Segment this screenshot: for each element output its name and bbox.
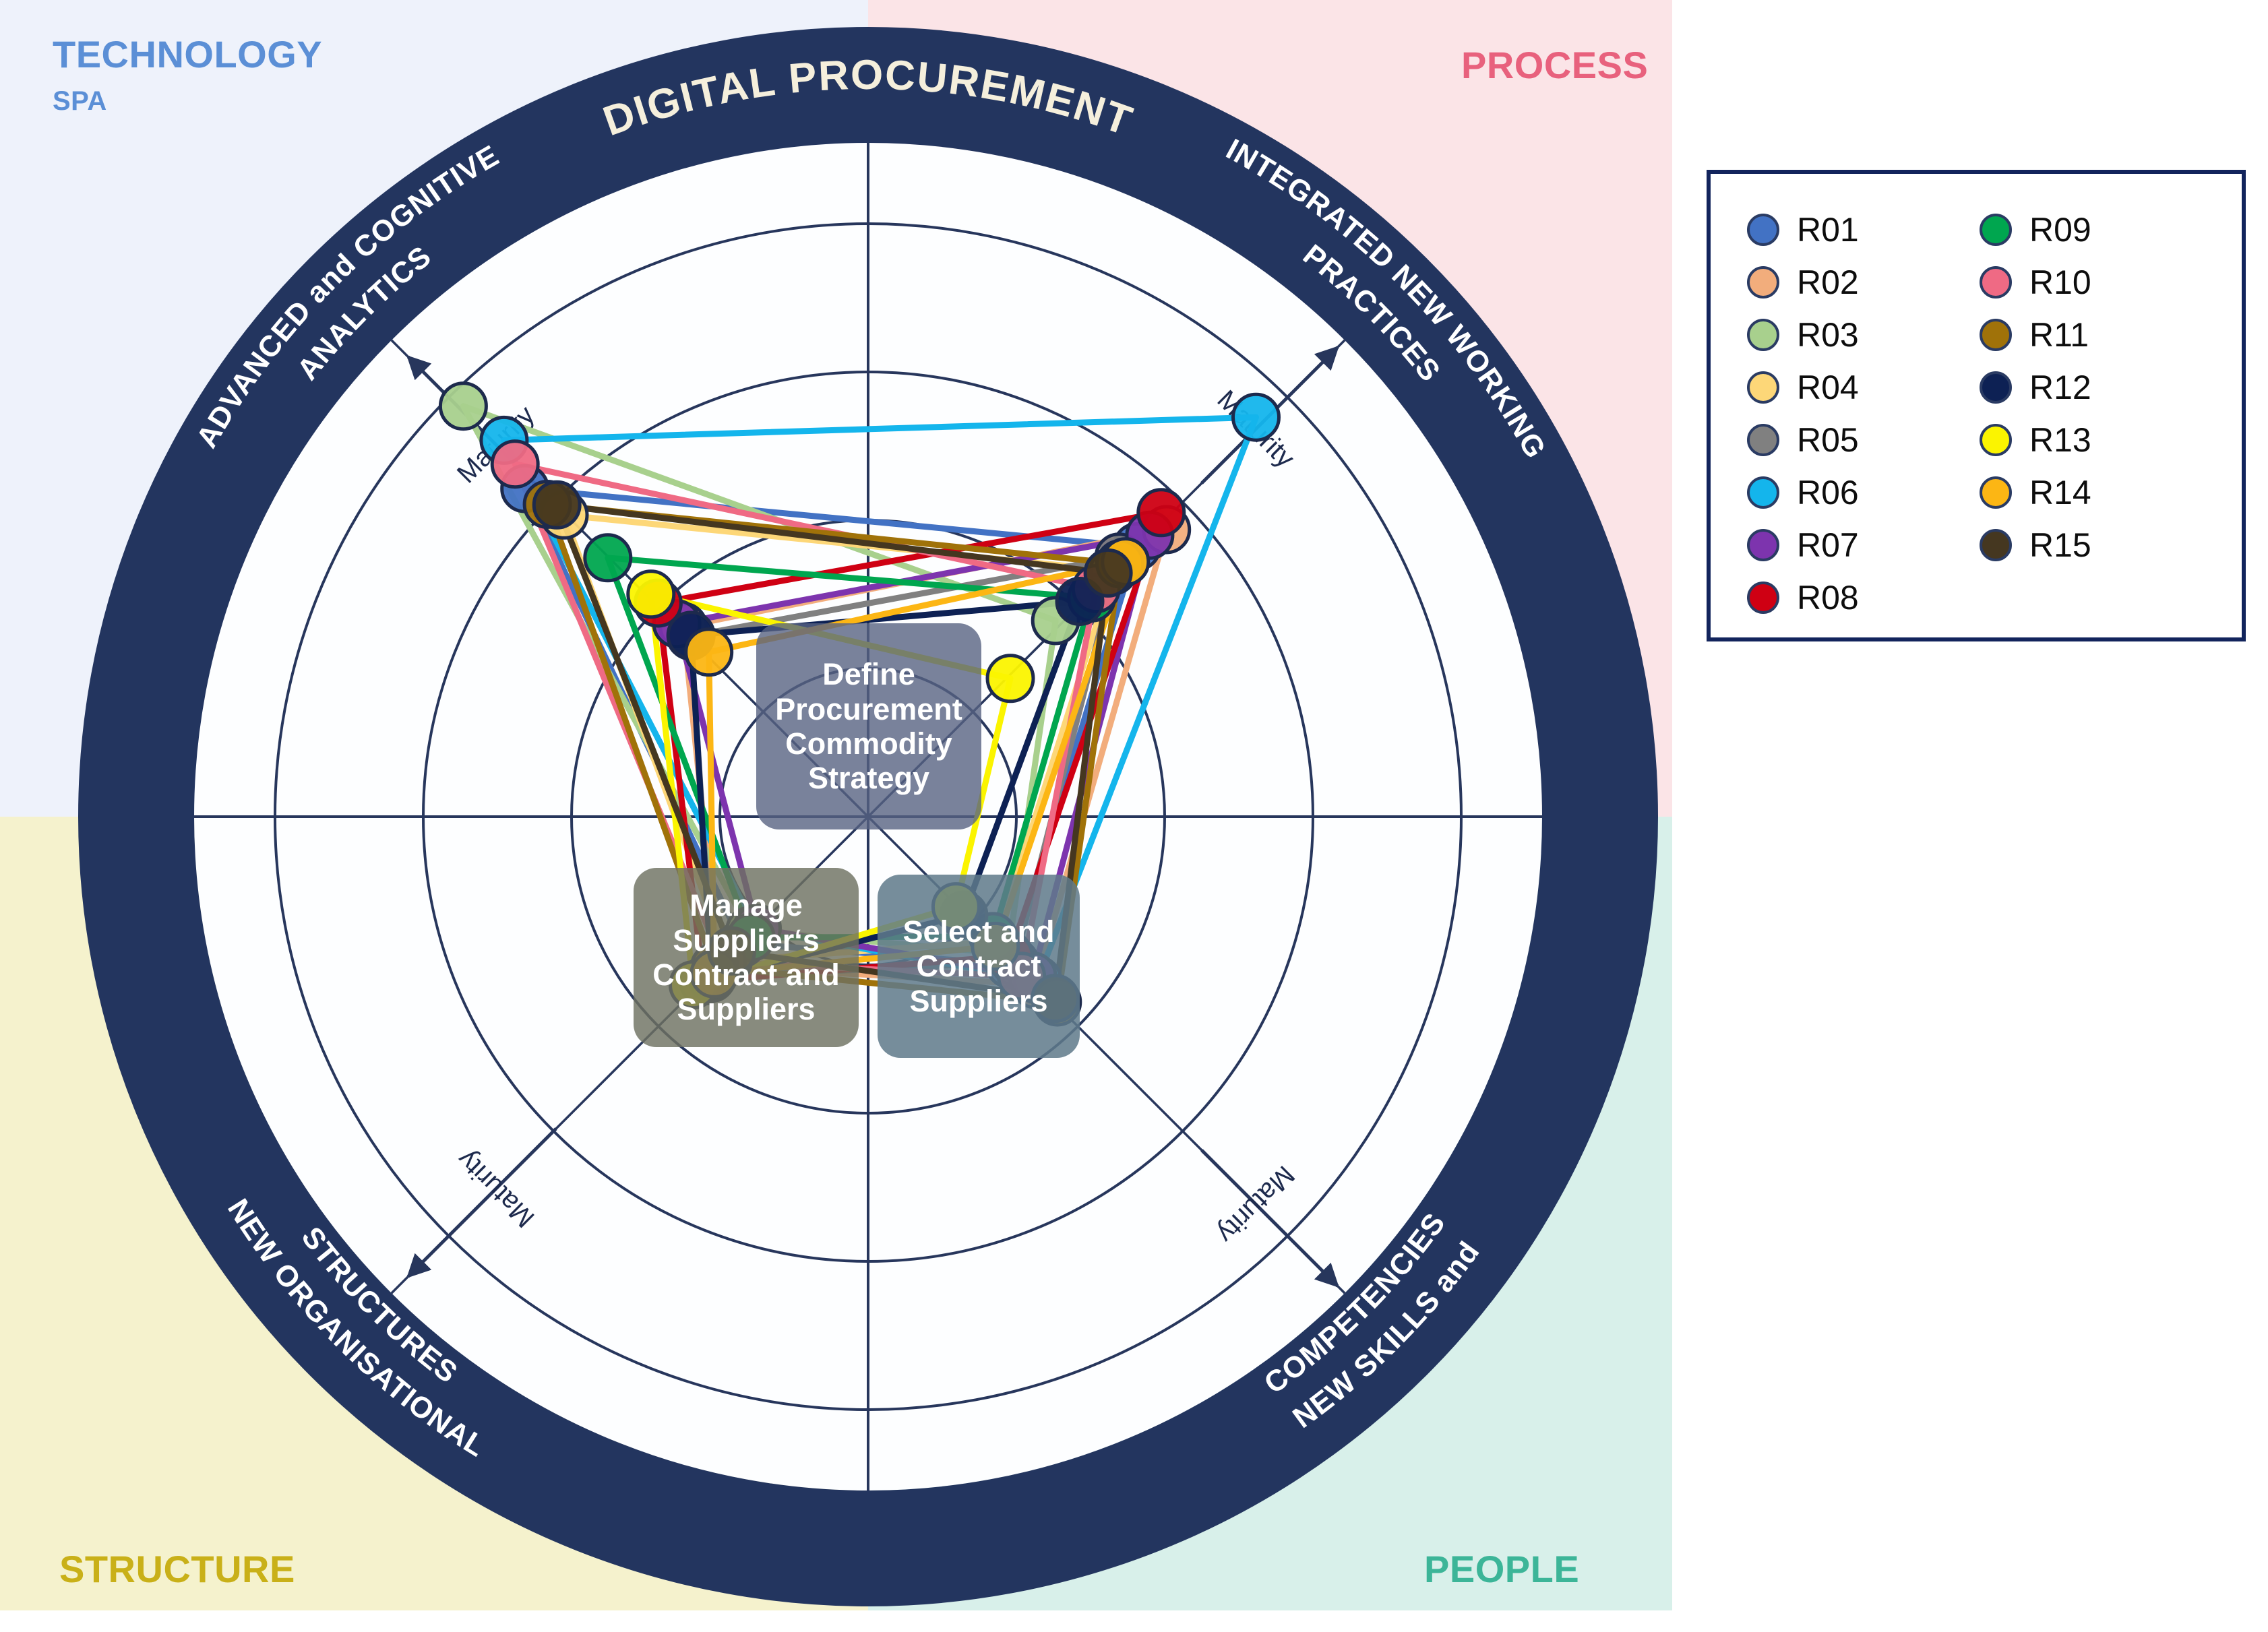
legend-label: R08 <box>1797 578 1859 617</box>
data-point-r09-advanced[interactable] <box>585 535 631 581</box>
legend-swatch-r01-icon <box>1747 214 1779 246</box>
legend-label: R05 <box>1797 420 1859 460</box>
legend-swatch-r07-icon <box>1747 529 1779 561</box>
data-point-r03-advanced[interactable] <box>440 383 486 429</box>
data-point-r15-integrated[interactable] <box>1085 550 1131 596</box>
legend-item-r01[interactable]: R01 <box>1747 203 1980 256</box>
legend-label: R10 <box>2029 263 2091 302</box>
quadrant-label-technology: TECHNOLOGY <box>53 32 322 76</box>
legend-swatch-r02-icon <box>1747 266 1779 299</box>
legend-item-r10[interactable]: R10 <box>1980 256 2212 309</box>
legend-label: R12 <box>2029 368 2091 407</box>
legend-swatch-r11-icon <box>1980 319 2012 351</box>
legend-item-r08[interactable]: R08 <box>1747 571 1980 624</box>
legend-label: R04 <box>1797 368 1859 407</box>
data-point-r10-advanced[interactable] <box>492 441 538 487</box>
quadrant-sublabel-spa: SPA <box>53 86 107 117</box>
legend-swatch-r04-icon <box>1747 371 1779 404</box>
legend-label: R15 <box>2029 526 2091 565</box>
legend-label: R03 <box>1797 315 1859 354</box>
legend-swatch-r03-icon <box>1747 319 1779 351</box>
legend-label: R13 <box>2029 420 2091 460</box>
data-point-r14-advanced[interactable] <box>686 629 732 675</box>
legend-item-r14[interactable]: R14 <box>1980 466 2212 519</box>
centre-box-define-procurement-commodity-strategy: Define Procurement Commodity Strategy <box>756 623 981 829</box>
legend-item-r13[interactable]: R13 <box>1980 414 2212 466</box>
legend-swatch-r15-icon <box>1980 529 2012 561</box>
legend-item-r03[interactable]: R03 <box>1747 309 1980 361</box>
legend-item-r04[interactable]: R04 <box>1747 361 1980 414</box>
centre-box-select-and-contract-suppliers: Select and Contract Suppliers <box>878 875 1080 1058</box>
data-point-r13-advanced[interactable] <box>628 571 674 617</box>
legend-label: R07 <box>1797 526 1859 565</box>
legend-item-r05[interactable]: R05 <box>1747 414 1980 466</box>
legend-label: R09 <box>2029 210 2091 249</box>
legend-item-r07[interactable]: R07 <box>1747 519 1980 571</box>
legend-swatch-r08-icon <box>1747 582 1779 614</box>
legend-item-r09[interactable]: R09 <box>1980 203 2212 256</box>
legend-item-r12[interactable]: R12 <box>1980 361 2212 414</box>
legend-swatch-r05-icon <box>1747 424 1779 456</box>
legend-label: R01 <box>1797 210 1859 249</box>
legend-label: R14 <box>2029 473 2091 512</box>
series-legend: R01R02R03R04R05R06R07R08R09R10R11R12R13R… <box>1707 170 2246 641</box>
legend-item-r15[interactable]: R15 <box>1980 519 2212 571</box>
legend-swatch-r13-icon <box>1980 424 2012 456</box>
data-point-r15-advanced[interactable] <box>534 482 580 528</box>
quadrant-label-process: PROCESS <box>1461 43 1648 87</box>
legend-swatch-r14-icon <box>1980 476 2012 509</box>
legend-swatch-r06-icon <box>1747 476 1779 509</box>
legend-grid: R01R02R03R04R05R06R07R08R09R10R11R12R13R… <box>1747 203 2212 624</box>
centre-box-manage-suppliers-contract: Manage Supplier‘s Contract and Suppliers <box>634 868 859 1047</box>
legend-label: R02 <box>1797 263 1859 302</box>
legend-label: R11 <box>2029 315 2089 354</box>
legend-item-r02[interactable]: R02 <box>1747 256 1980 309</box>
data-point-r08-integrated[interactable] <box>1138 490 1184 536</box>
legend-swatch-r09-icon <box>1980 214 2012 246</box>
radar-chart-panel: DIGITAL PROCUREMENTADVANCED and COGNITIV… <box>0 0 1672 1610</box>
legend-swatch-r12-icon <box>1980 371 2012 404</box>
legend-label: R06 <box>1797 473 1859 512</box>
quadrant-label-people: PEOPLE <box>1424 1547 1579 1591</box>
legend-swatch-r10-icon <box>1980 266 2012 299</box>
digital-procurement-maturity-figure: DIGITAL PROCUREMENTADVANCED and COGNITIV… <box>0 0 2268 1632</box>
data-point-r13-integrated[interactable] <box>987 656 1033 701</box>
legend-item-r11[interactable]: R11 <box>1980 309 2212 361</box>
quadrant-label-structure: STRUCTURE <box>59 1547 295 1591</box>
data-point-r06-integrated[interactable] <box>1233 394 1279 440</box>
legend-item-r06[interactable]: R06 <box>1747 466 1980 519</box>
